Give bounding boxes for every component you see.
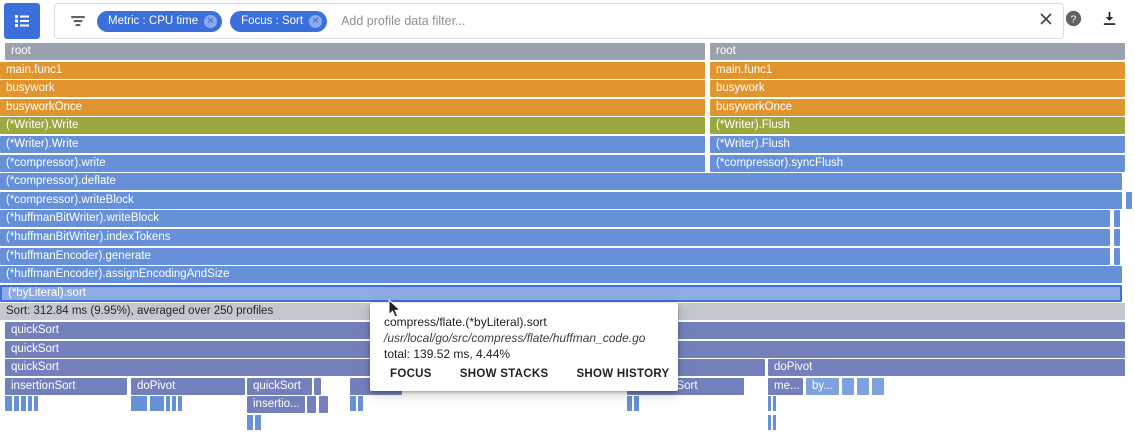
flame-frame-tick[interactable] bbox=[255, 415, 261, 430]
flame-frame[interactable]: busyworkOnce bbox=[0, 99, 705, 116]
flame-frame[interactable] bbox=[842, 378, 854, 395]
flame-frame[interactable]: doPivot bbox=[768, 359, 1125, 376]
frame-label: root bbox=[11, 45, 31, 57]
flame-frame[interactable]: (*compressor).syncFlush bbox=[710, 155, 1125, 172]
flame-frame[interactable]: busywork bbox=[0, 80, 705, 97]
filter-tune-icon[interactable] bbox=[67, 10, 89, 32]
flame-frame[interactable] bbox=[314, 378, 321, 395]
frame-label: (*Writer).Flush bbox=[716, 119, 790, 131]
frame-label: (*huffmanEncoder).generate bbox=[6, 250, 151, 262]
svg-text:?: ? bbox=[1070, 14, 1076, 25]
flame-frame[interactable]: doPivot bbox=[131, 378, 245, 395]
flame-frame-tick[interactable] bbox=[34, 396, 38, 411]
flame-frame-tick[interactable] bbox=[150, 396, 164, 411]
flame-frame[interactable]: (*huffmanEncoder).assignEncodingAndSize bbox=[0, 266, 1122, 283]
frame-label: (*Writer).Write bbox=[6, 119, 78, 131]
frame-detail-tooltip: compress/flate.(*byLiteral).sort /usr/lo… bbox=[370, 303, 678, 391]
flame-frame-tick[interactable] bbox=[358, 396, 363, 411]
frame-label: by... bbox=[812, 380, 833, 392]
flame-frame[interactable]: insertio... bbox=[247, 396, 305, 413]
list-menu-button[interactable] bbox=[4, 3, 40, 39]
frame-label: main.func1 bbox=[716, 64, 772, 76]
frame-label: (*compressor).writeBlock bbox=[6, 194, 134, 206]
focus-button[interactable]: FOCUS bbox=[382, 363, 440, 385]
flame-frame[interactable]: (*compressor).deflate bbox=[0, 173, 1122, 190]
frame-label: quickSort bbox=[11, 361, 59, 373]
download-button[interactable] bbox=[1098, 10, 1120, 32]
show-stacks-button[interactable]: SHOW STACKS bbox=[452, 363, 557, 385]
flame-frame[interactable]: (*Writer).Write bbox=[0, 136, 705, 153]
frame-label: root bbox=[716, 45, 736, 57]
flame-frame-sliver[interactable] bbox=[1114, 229, 1120, 246]
flame-frame[interactable] bbox=[319, 396, 328, 413]
show-history-button[interactable]: SHOW HISTORY bbox=[568, 363, 677, 385]
frame-label: me... bbox=[774, 380, 800, 392]
flame-frame[interactable]: root bbox=[710, 43, 1125, 60]
chip-focus[interactable]: Focus : Sort ✕ bbox=[230, 11, 327, 32]
flame-frame[interactable]: me... bbox=[768, 378, 803, 395]
frame-label: busyworkOnce bbox=[6, 101, 82, 113]
flame-frame[interactable]: (*compressor).writeBlock bbox=[0, 192, 1122, 209]
flame-frame-tick[interactable] bbox=[172, 396, 176, 411]
flame-frame-tick[interactable] bbox=[627, 396, 632, 411]
flame-frame[interactable]: (*huffmanEncoder).generate bbox=[0, 248, 1110, 265]
frame-label: busywork bbox=[716, 82, 765, 94]
flame-frame[interactable]: by... bbox=[806, 378, 839, 395]
flame-frame-sliver[interactable] bbox=[1126, 192, 1132, 209]
chip-focus-remove-icon[interactable]: ✕ bbox=[309, 15, 322, 28]
frame-label: busyworkOnce bbox=[716, 101, 792, 113]
flame-frame[interactable]: (*huffmanBitWriter).indexTokens bbox=[0, 229, 1110, 246]
frame-label: quickSort bbox=[11, 324, 59, 336]
flame-frame-sliver[interactable] bbox=[1114, 210, 1120, 227]
flame-frame[interactable]: (*byLiteral).sort bbox=[0, 285, 1122, 302]
flame-frame-tick[interactable] bbox=[21, 396, 26, 411]
flame-frame[interactable]: main.func1 bbox=[0, 62, 705, 79]
frame-label: (*huffmanBitWriter).indexTokens bbox=[6, 231, 170, 243]
flame-frame[interactable] bbox=[857, 378, 869, 395]
flame-frame-tick[interactable] bbox=[768, 396, 771, 411]
flame-frame[interactable] bbox=[307, 396, 316, 413]
flame-frame-tick[interactable] bbox=[350, 396, 356, 411]
frame-label: doPivot bbox=[774, 361, 812, 373]
flame-frame-tick[interactable] bbox=[5, 396, 12, 411]
tooltip-file-path: /usr/local/go/src/compress/flate/huffman… bbox=[384, 330, 664, 346]
frame-label: (*byLiteral).sort bbox=[8, 287, 86, 299]
flame-frame[interactable]: quickSort bbox=[247, 378, 312, 395]
frame-label: insertio... bbox=[253, 398, 300, 410]
top-toolbar: Metric : CPU time ✕ Focus : Sort ✕ ? bbox=[0, 0, 1135, 42]
help-icon: ? bbox=[1065, 10, 1082, 32]
frame-label: quickSort bbox=[253, 380, 301, 392]
help-button[interactable]: ? bbox=[1062, 10, 1084, 32]
frame-label: doPivot bbox=[137, 380, 175, 392]
close-icon bbox=[1038, 11, 1054, 32]
flame-frame[interactable]: (*huffmanBitWriter).writeBlock bbox=[0, 210, 1110, 227]
chip-metric-remove-icon[interactable]: ✕ bbox=[204, 15, 217, 28]
frame-label: (*Writer).Write bbox=[6, 138, 78, 150]
tooltip-actions: FOCUS SHOW STACKS SHOW HISTORY bbox=[370, 363, 678, 385]
profile-filter-input[interactable] bbox=[339, 9, 1029, 33]
flame-frame[interactable]: main.func1 bbox=[710, 62, 1125, 79]
chip-metric-label: Metric : CPU time bbox=[108, 11, 198, 32]
chip-focus-label: Focus : Sort bbox=[241, 11, 303, 32]
frame-label: (*huffmanBitWriter).writeBlock bbox=[6, 212, 159, 224]
tooltip-total-value: total: 139.52 ms, 4.44% bbox=[384, 346, 664, 362]
flame-frame-tick[interactable] bbox=[773, 415, 776, 430]
flame-frame-tick[interactable] bbox=[14, 396, 19, 411]
flame-frame-tick[interactable] bbox=[634, 396, 639, 411]
flame-frame-tick[interactable] bbox=[247, 415, 253, 430]
flame-frame[interactable]: (*Writer).Write bbox=[0, 117, 705, 134]
flame-frame[interactable]: insertionSort bbox=[5, 378, 127, 395]
frame-label: busywork bbox=[6, 82, 55, 94]
list-menu-icon bbox=[13, 12, 31, 30]
download-icon bbox=[1101, 10, 1118, 32]
flame-frame[interactable]: (*Writer).Flush bbox=[710, 117, 1125, 134]
flame-frame-tick[interactable] bbox=[131, 396, 147, 411]
frame-label: (*Writer).Flush bbox=[716, 138, 790, 150]
flame-frame-tick[interactable] bbox=[166, 396, 170, 411]
flame-frame[interactable]: (*compressor).write bbox=[0, 155, 705, 172]
flame-frame[interactable] bbox=[872, 378, 884, 395]
frame-label: (*compressor).syncFlush bbox=[716, 157, 843, 169]
frame-label: main.func1 bbox=[6, 64, 62, 76]
chip-metric[interactable]: Metric : CPU time ✕ bbox=[97, 11, 222, 32]
flame-frame-tick[interactable] bbox=[768, 415, 771, 430]
frame-label: (*compressor).deflate bbox=[6, 175, 116, 187]
filter-bar: Metric : CPU time ✕ Focus : Sort ✕ bbox=[54, 3, 1064, 39]
frame-label: insertionSort bbox=[11, 380, 76, 392]
frame-label: (*compressor).write bbox=[6, 157, 106, 169]
tooltip-function-name: compress/flate.(*byLiteral).sort bbox=[384, 314, 664, 330]
flame-frame[interactable]: root bbox=[5, 43, 705, 60]
flame-frame-tick[interactable] bbox=[28, 396, 32, 411]
flame-frame[interactable]: busyworkOnce bbox=[710, 99, 1125, 116]
frame-label: (*huffmanEncoder).assignEncodingAndSize bbox=[6, 268, 230, 280]
flame-frame-tick[interactable] bbox=[773, 396, 776, 411]
flame-frame-sliver[interactable] bbox=[1114, 248, 1120, 265]
flame-frame[interactable]: (*Writer).Flush bbox=[710, 136, 1125, 153]
flame-frame[interactable]: busywork bbox=[710, 80, 1125, 97]
flame-frame-tick[interactable] bbox=[178, 396, 182, 411]
frame-label: quickSort bbox=[11, 343, 59, 355]
clear-filter-button[interactable] bbox=[1029, 4, 1063, 38]
